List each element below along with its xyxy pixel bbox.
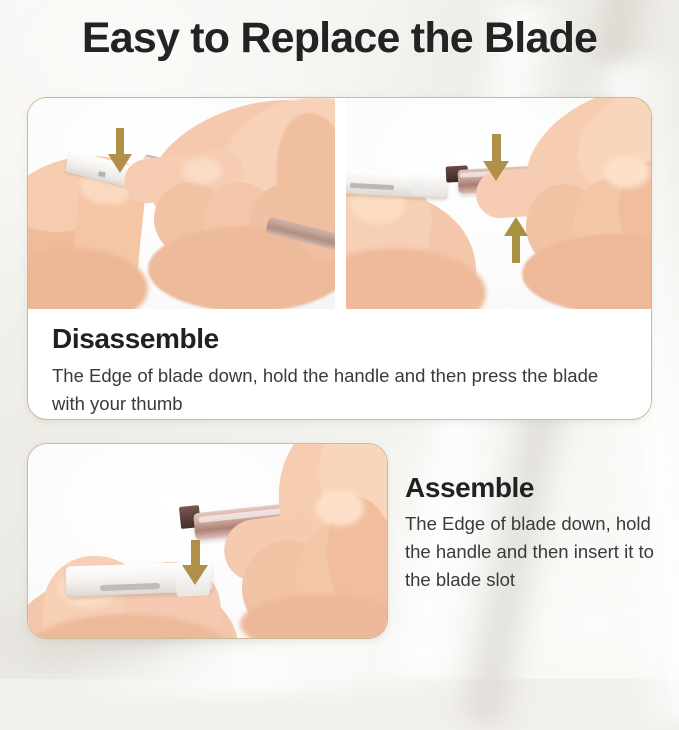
disassemble-photo-2 [346, 98, 651, 309]
arrow-down-icon [180, 540, 210, 586]
disassemble-caption: Disassemble The Edge of blade down, hold… [28, 309, 651, 417]
arrow-down-icon [481, 134, 511, 182]
cartridge-collar [411, 173, 446, 197]
assemble-photo-1 [28, 444, 387, 638]
arrow-up-icon [503, 216, 529, 264]
assemble-caption: Assemble The Edge of blade down, hold th… [405, 472, 655, 594]
photo-divider [335, 98, 346, 309]
disassemble-card: Disassemble The Edge of blade down, hold… [27, 97, 652, 420]
assemble-card [27, 443, 388, 639]
disassemble-photo-row [28, 98, 651, 309]
disassemble-body: The Edge of blade down, hold the handle … [52, 362, 627, 416]
arrow-down-icon [106, 128, 134, 174]
page-title: Easy to Replace the Blade [0, 14, 679, 63]
disassemble-heading: Disassemble [52, 323, 627, 354]
disassemble-photo-1 [28, 98, 335, 309]
assemble-heading: Assemble [405, 472, 655, 503]
assemble-body: The Edge of blade down, hold the handle … [405, 510, 655, 593]
